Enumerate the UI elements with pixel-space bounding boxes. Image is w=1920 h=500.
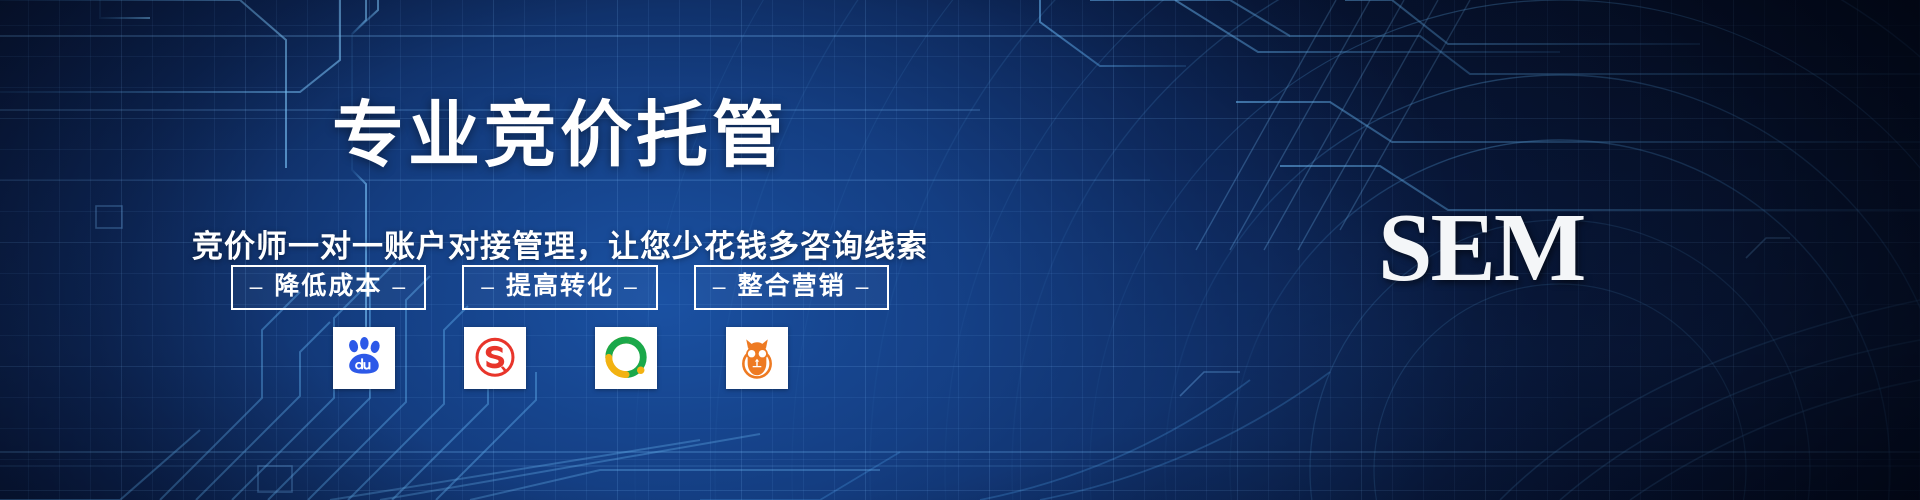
shenma-logo-icon [734, 335, 780, 381]
baidu-logo-icon [341, 335, 387, 381]
feature-badge-list: – 降低成本 – – 提高转化 – – 整合营销 – [0, 265, 1120, 310]
dash-right-icon: – [392, 275, 407, 298]
banner-subheadline: 竞价师一对一账户对接管理，让您少花钱多咨询线索 [0, 231, 1120, 262]
feature-badge-conversion[interactable]: – 提高转化 – [462, 265, 658, 310]
feature-badge-cost-reduction[interactable]: – 降低成本 – [231, 265, 427, 310]
shenma-logo-tile[interactable] [726, 327, 788, 389]
so360-logo-tile[interactable] [595, 327, 657, 389]
sem-hosting-banner: 专业竞价托管 竞价师一对一账户对接管理，让您少花钱多咨询线索 – 降低成本 – … [0, 0, 1920, 500]
feature-badge-label: 降低成本 [274, 274, 382, 299]
feature-badge-label: 整合营销 [738, 274, 846, 299]
search-engine-logo-list [0, 327, 1120, 389]
sogou-logo-tile[interactable] [464, 327, 526, 389]
feature-badge-integrated-marketing[interactable]: – 整合营销 – [694, 265, 890, 310]
dash-right-icon: – [624, 275, 639, 298]
dash-left-icon: – [481, 275, 496, 298]
feature-badge-label: 提高转化 [506, 274, 614, 299]
sogou-logo-icon [472, 335, 518, 381]
so360-logo-icon [603, 335, 649, 381]
sem-brand-mark: SEM [1378, 199, 1584, 297]
dash-right-icon: – [856, 275, 871, 298]
banner-headline: 专业竞价托管 [0, 100, 1120, 172]
dash-left-icon: – [250, 275, 265, 298]
baidu-logo-tile[interactable] [333, 327, 395, 389]
dash-left-icon: – [713, 275, 728, 298]
banner-content: 专业竞价托管 竞价师一对一账户对接管理，让您少花钱多咨询线索 – 降低成本 – … [0, 0, 1920, 500]
